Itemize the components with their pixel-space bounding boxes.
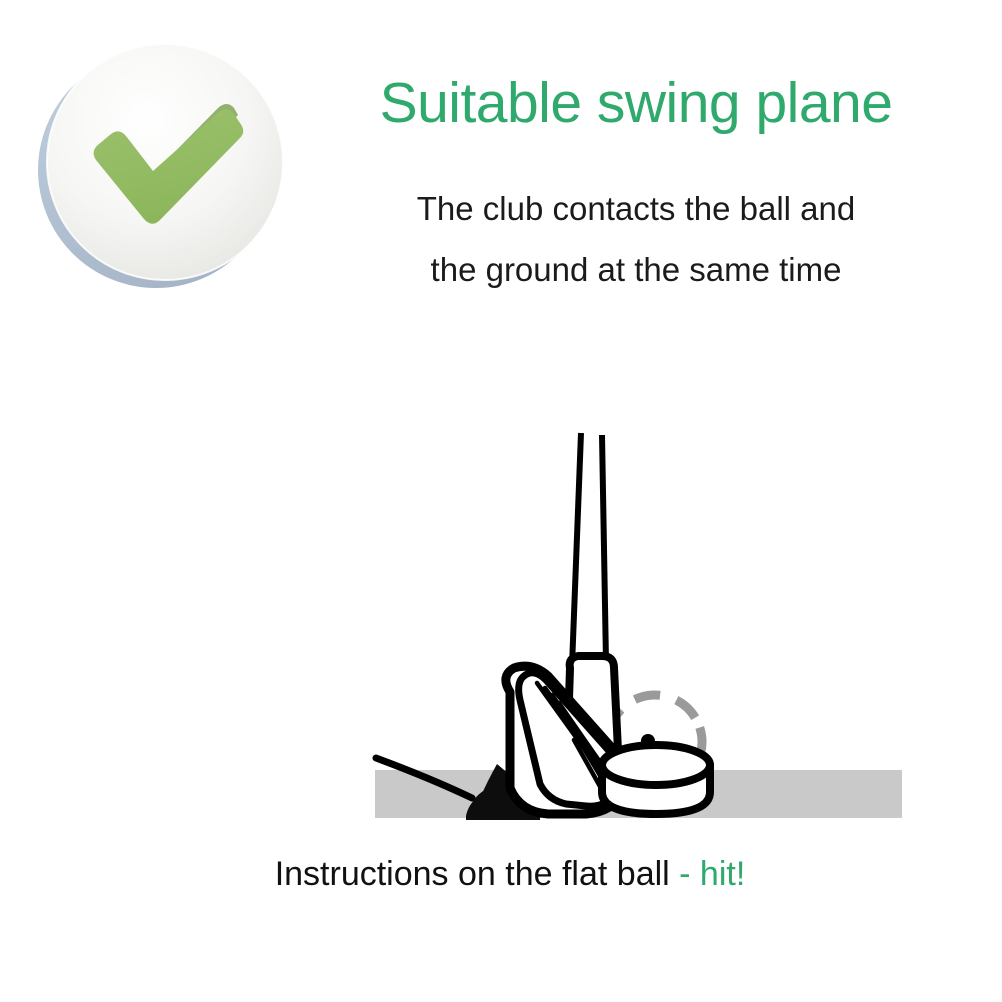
check-circle-icon (28, 28, 300, 300)
page-title: Suitable swing plane (300, 74, 972, 134)
flattened-ball-disc (602, 745, 710, 814)
subtitle-line-2: the ground at the same time (300, 239, 972, 300)
subtitle-line-1: The club contacts the ball and (300, 178, 972, 239)
page-root: Suitable swing plane The club contacts t… (0, 0, 1002, 1002)
footer-caption: Instructions on the flat ball - hit! (180, 855, 840, 894)
caption-main-text: Instructions on the flat ball (275, 855, 679, 893)
ball-center-dot (641, 734, 655, 748)
club-shaft (572, 433, 606, 666)
page-subtitle: The club contacts the ball and the groun… (300, 178, 972, 300)
caption-accent-text: - hit! (679, 855, 745, 893)
golf-iron-illustration (0, 400, 1002, 830)
